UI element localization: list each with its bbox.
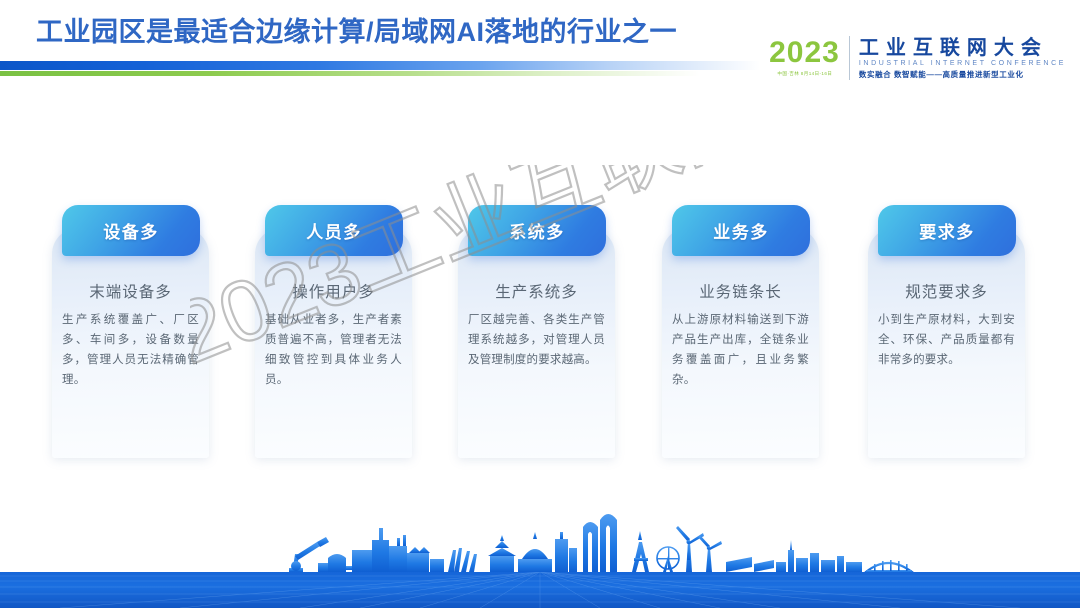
info-card: 规范要求多 小到生产原材料，大到安全、环保、产品质量都有非常多的要求。: [868, 228, 1025, 458]
card-title: 操作用户多: [255, 280, 412, 302]
card-body: 厂区越完善、各类生产管理系统越多，对管理人员及管理制度的要求越高。: [468, 310, 605, 370]
card-badge-label: 系统多: [509, 218, 565, 243]
card-body: 基础从业者多，生产者素质普遍不高，管理者无法细致管控到具体业务人员。: [265, 310, 402, 390]
card-title: 规范要求多: [868, 280, 1025, 302]
slide-canvas: 工业园区是最适合边缘计算/局域网AI落地的行业之一 2023 中国·吉林 8月1…: [0, 0, 1080, 608]
card-badge: 要求多: [878, 205, 1016, 256]
info-card: 生产系统多 厂区越完善、各类生产管理系统越多，对管理人员及管理制度的要求越高。: [458, 228, 615, 458]
info-card: 业务链条长 从上游原材料输送到下游产品生产出库，全链条业务覆盖面广，且业务繁杂。: [662, 228, 819, 458]
card-row: 末端设备多 生产系统覆盖广、厂区多、车间多，设备数量多，管理人员无法精确管理。 …: [0, 0, 1080, 608]
card-badge: 业务多: [672, 205, 810, 256]
card-badge-label: 设备多: [103, 218, 159, 243]
card-badge-label: 要求多: [919, 218, 975, 243]
card-badge: 人员多: [265, 205, 403, 256]
card-title: 生产系统多: [458, 280, 615, 302]
card-badge: 设备多: [62, 205, 200, 256]
card-body: 小到生产原材料，大到安全、环保、产品质量都有非常多的要求。: [878, 310, 1015, 370]
card-body: 生产系统覆盖广、厂区多、车间多，设备数量多，管理人员无法精确管理。: [62, 310, 199, 390]
info-card: 末端设备多 生产系统覆盖广、厂区多、车间多，设备数量多，管理人员无法精确管理。: [52, 228, 209, 458]
card-title: 业务链条长: [662, 280, 819, 302]
card-badge: 系统多: [468, 205, 606, 256]
card-title: 末端设备多: [52, 280, 209, 302]
card-body: 从上游原材料输送到下游产品生产出库，全链条业务覆盖面广，且业务繁杂。: [672, 310, 809, 390]
card-badge-label: 业务多: [713, 218, 769, 243]
card-badge-label: 人员多: [306, 218, 362, 243]
info-card: 操作用户多 基础从业者多，生产者素质普遍不高，管理者无法细致管控到具体业务人员。: [255, 228, 412, 458]
